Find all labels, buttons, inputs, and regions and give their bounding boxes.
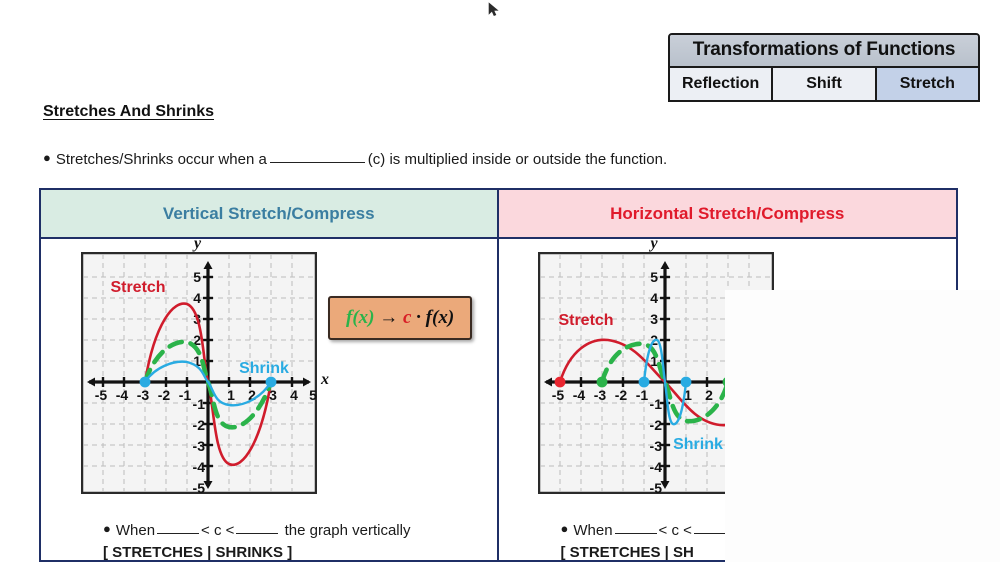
svg-text:-4: -4: [116, 387, 129, 403]
svg-text:-5: -5: [551, 387, 564, 403]
blank-line: [270, 162, 365, 163]
nav-item-stretch[interactable]: Stretch: [877, 68, 978, 100]
svg-text:4: 4: [290, 387, 298, 403]
column-vertical: Vertical Stretch/Compress: [41, 190, 499, 560]
note-vertical-post: the graph vertically: [285, 522, 411, 539]
page-title: Stretches And Shrinks: [43, 103, 214, 121]
svg-text:-1: -1: [179, 387, 192, 403]
svg-text:5: 5: [309, 387, 317, 403]
transformations-nav-table: Transformations of Functions Reflection …: [668, 33, 980, 102]
svg-text:-5: -5: [95, 387, 108, 403]
graph-horizontal-stretch-label: Stretch: [558, 312, 613, 329]
formula-vertical: f(x) → c · f(x): [328, 296, 472, 340]
nav-item-shift[interactable]: Shift: [773, 68, 876, 100]
svg-text:-1: -1: [193, 396, 206, 412]
svg-text:2: 2: [705, 387, 713, 403]
svg-text:-3: -3: [593, 387, 606, 403]
note-horizontal-options: [ STRETCHES | SH: [561, 544, 694, 561]
svg-text:-5: -5: [193, 480, 206, 494]
svg-text:4: 4: [650, 290, 658, 306]
column-header-horizontal: Horizontal Stretch/Compress: [499, 190, 957, 239]
svg-text:-2: -2: [193, 417, 206, 433]
svg-text:-2: -2: [158, 387, 171, 403]
graph-vertical-shrink-label: Shrink: [239, 360, 289, 377]
blank-line: [157, 533, 199, 534]
svg-text:3: 3: [650, 311, 658, 327]
bullet-text-post: (c) is multiplied inside or outside the …: [368, 151, 667, 168]
svg-text:-1: -1: [635, 387, 648, 403]
graph-horizontal-shrink-label: Shrink: [673, 436, 723, 453]
graph-vertical: -5-4-3 -2-1 123 45 543 21 -1-2-3 -4-5 St…: [81, 252, 317, 499]
svg-text:-2: -2: [649, 417, 662, 433]
lesson-bullet: ●Stretches/Shrinks occur when a(c) is mu…: [43, 150, 667, 168]
svg-text:-4: -4: [193, 459, 206, 475]
svg-text:-4: -4: [649, 459, 662, 475]
svg-text:1: 1: [227, 387, 235, 403]
graph-vertical-stretch-label: Stretch: [110, 279, 165, 296]
note-vertical-mid: < c <: [201, 522, 234, 539]
column-header-vertical: Vertical Stretch/Compress: [41, 190, 497, 239]
bullet-marker-icon: ●: [561, 521, 569, 536]
svg-text:-3: -3: [137, 387, 150, 403]
svg-text:4: 4: [193, 290, 201, 306]
svg-text:-5: -5: [649, 480, 662, 494]
note-horizontal-mid: < c <: [659, 522, 692, 539]
svg-text:-3: -3: [649, 438, 662, 454]
mouse-cursor: [488, 2, 500, 18]
note-vertical-pre: When: [116, 522, 155, 539]
blank-line: [615, 533, 657, 534]
graph-vertical-svg: -5-4-3 -2-1 123 45 543 21 -1-2-3 -4-5 St…: [81, 252, 317, 494]
note-horizontal-pre: When: [573, 522, 612, 539]
bullet-marker-icon: ●: [43, 150, 51, 165]
axis-label-y-right: y: [651, 235, 658, 253]
svg-text:-2: -2: [614, 387, 627, 403]
bullet-text-pre: Stretches/Shrinks occur when a: [56, 151, 267, 168]
svg-text:5: 5: [193, 269, 201, 285]
svg-text:-4: -4: [572, 387, 585, 403]
nav-table-title: Transformations of Functions: [670, 35, 978, 68]
note-vertical-options: [ STRETCHES | SHRINKS ]: [103, 544, 292, 561]
presenter-webcam-overlay: [725, 290, 1000, 562]
svg-text:5: 5: [650, 269, 658, 285]
svg-text:-3: -3: [193, 438, 206, 454]
svg-text:-1: -1: [649, 396, 662, 412]
blank-line: [236, 533, 278, 534]
axis-label-x-left: x: [321, 371, 329, 389]
nav-item-reflection[interactable]: Reflection: [670, 68, 773, 100]
nav-table-row: Reflection Shift Stretch: [670, 68, 978, 100]
bullet-marker-icon: ●: [103, 521, 111, 536]
note-vertical: ●When< c < the graph vertically [ STRETC…: [103, 520, 533, 564]
axis-label-y-left: y: [194, 235, 201, 253]
